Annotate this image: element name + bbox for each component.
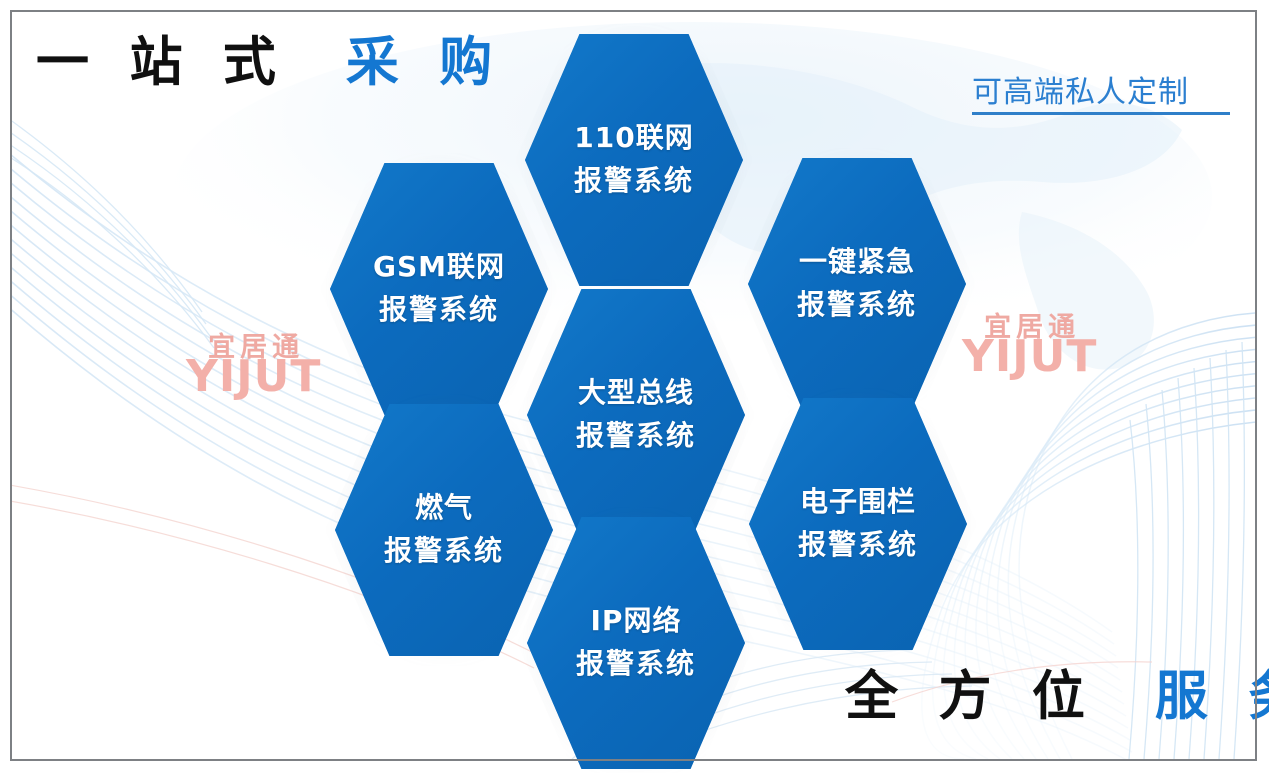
hexagon-one-key-emergency-alarm[interactable]: 一键紧急 报警系统: [748, 158, 966, 410]
hexagon-ip-network-alarm[interactable]: IP网络 报警系统: [527, 517, 745, 769]
hexagon-label-line1: 电子围栏: [800, 481, 916, 524]
hexagon-label-line1: 110联网: [574, 117, 693, 160]
hexagon-gas-alarm[interactable]: 燃气 报警系统: [335, 404, 553, 656]
hexagon-label-line1: 燃气: [415, 487, 473, 530]
hexagon-gsm-network-alarm[interactable]: GSM联网 报警系统: [330, 163, 548, 415]
hexagon-label-line1: GSM联网: [373, 246, 505, 289]
hexagon-label-line1: 一键紧急: [799, 241, 915, 284]
hexagon-label-line1: IP网络: [591, 600, 682, 643]
infographic-canvas: 宜居通 YIJUT 宜居通 YIJUT 一 站 式 采 购 可高端私人定制 11…: [0, 0, 1269, 773]
hexagon-electronic-fence-alarm[interactable]: 电子围栏 报警系统: [749, 398, 967, 650]
headline-dark-text: 全 方 位: [845, 666, 1096, 727]
hexagon-label-line2: 报警系统: [384, 530, 504, 573]
tagline-text: 可高端私人定制: [972, 76, 1230, 109]
hexagon-label-line2: 报警系统: [797, 284, 917, 327]
hexagon-large-bus-alarm[interactable]: 大型总线 报警系统: [527, 289, 745, 541]
headline-accent-text: 采 购: [346, 32, 503, 93]
tagline-custom-service: 可高端私人定制: [972, 76, 1230, 115]
hexagon-label-line2: 报警系统: [576, 415, 696, 458]
headline-accent-text: 服 务: [1155, 666, 1269, 727]
headline-one-stop-purchasing: 一 站 式 采 购: [36, 36, 503, 89]
headline-all-round-service: 全 方 位 服 务: [845, 670, 1269, 723]
hexagon-label-line2: 报警系统: [798, 524, 918, 567]
hexagon-label-line1: 大型总线: [578, 372, 694, 415]
hexagon-cluster: 110联网 报警系统 GSM联网 报警系统 一键紧急 报警系统 大型总线 报警系…: [0, 0, 1269, 773]
hexagon-label-line2: 报警系统: [574, 160, 694, 203]
tagline-underline: [972, 112, 1230, 115]
hexagon-label-line2: 报警系统: [576, 643, 696, 686]
hexagon-110-network-alarm[interactable]: 110联网 报警系统: [525, 34, 743, 286]
hexagon-label-line2: 报警系统: [379, 289, 499, 332]
headline-dark-text: 一 站 式: [36, 32, 287, 93]
